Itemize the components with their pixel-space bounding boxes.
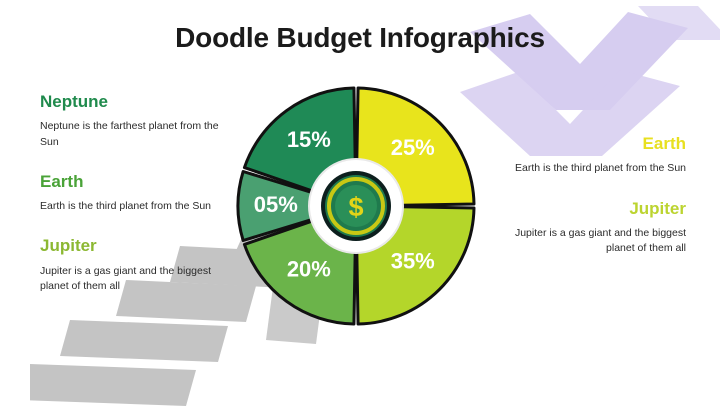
- pie-slice-label: 20%: [287, 257, 331, 282]
- pie-slice-label: 35%: [391, 249, 435, 274]
- left-entry-jupiter: Jupiter Jupiter is a gas giant and the b…: [40, 236, 240, 294]
- page-title: Doodle Budget Infographics: [0, 22, 720, 54]
- pie-slice-label: 15%: [287, 127, 331, 152]
- right-text-column: Earth Earth is the third planet from the…: [486, 134, 686, 256]
- right-entry-earth-body: Earth is the third planet from the Sun: [486, 161, 686, 176]
- right-entry-earth: Earth Earth is the third planet from the…: [486, 134, 686, 177]
- left-entry-neptune-title: Neptune: [40, 92, 240, 112]
- right-entry-earth-title: Earth: [486, 134, 686, 154]
- pie-slice-label: 25%: [391, 135, 435, 160]
- budget-pie-chart: 25%35%20%05%15% $: [236, 86, 476, 326]
- infographic-slide: Doodle Budget Infographics Neptune Neptu…: [0, 0, 720, 406]
- pie-slice-label: 05%: [254, 192, 298, 217]
- left-text-column: Neptune Neptune is the farthest planet f…: [40, 92, 240, 294]
- right-entry-jupiter-body: Jupiter is a gas giant and the biggest p…: [486, 226, 686, 256]
- left-entry-jupiter-body: Jupiter is a gas giant and the biggest p…: [40, 264, 240, 294]
- svg-text:$: $: [348, 192, 363, 222]
- left-entry-neptune-body: Neptune is the farthest planet from the …: [40, 119, 240, 149]
- right-entry-jupiter-title: Jupiter: [486, 199, 686, 219]
- left-entry-neptune: Neptune Neptune is the farthest planet f…: [40, 92, 240, 150]
- left-entry-earth-title: Earth: [40, 172, 240, 192]
- dollar-coin-icon: $: [321, 171, 391, 241]
- left-entry-jupiter-title: Jupiter: [40, 236, 240, 256]
- right-entry-jupiter: Jupiter Jupiter is a gas giant and the b…: [486, 199, 686, 257]
- left-entry-earth: Earth Earth is the third planet from the…: [40, 172, 240, 215]
- left-entry-earth-body: Earth is the third planet from the Sun: [40, 199, 240, 214]
